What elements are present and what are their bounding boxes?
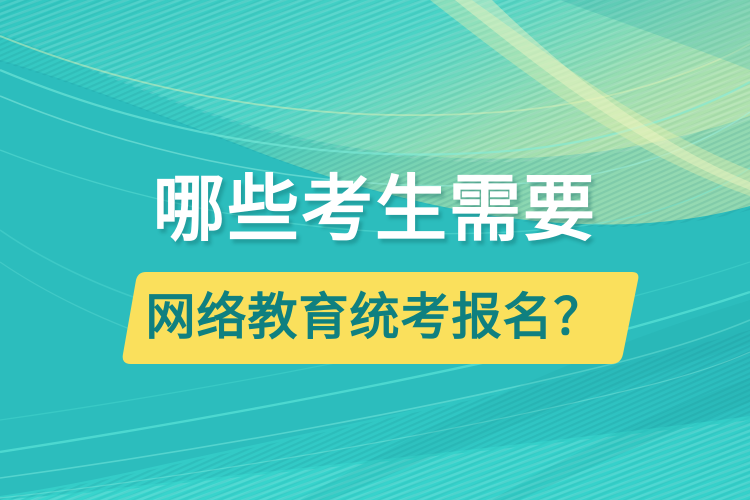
promo-banner: 哪些考生需要 网络教育统考报名？ — [0, 0, 750, 500]
headline-text: 哪些考生需要 — [0, 166, 750, 252]
subheadline-banner: 网络教育统考报名？ — [0, 270, 750, 366]
subheadline-text: 网络教育统考报名？ — [0, 286, 750, 348]
